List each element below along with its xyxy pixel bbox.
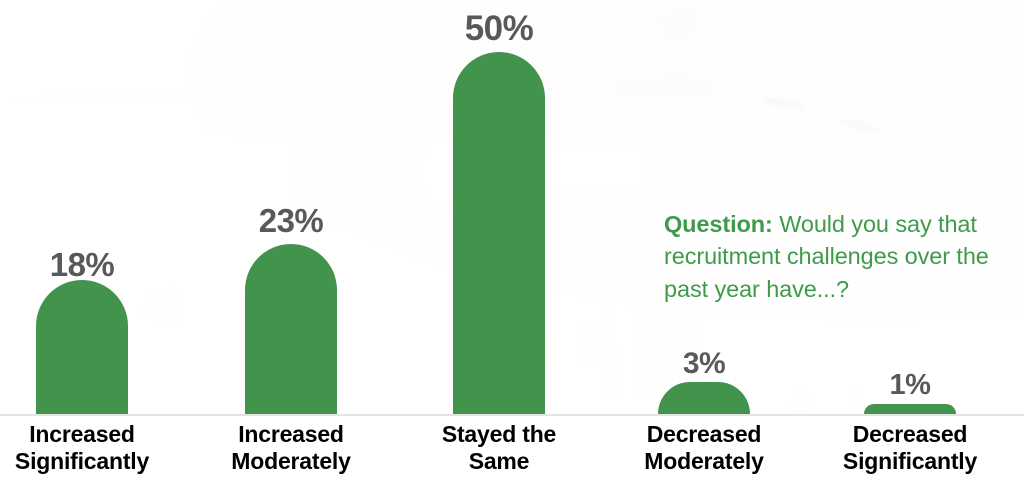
bar-category-label-line1: Decreased xyxy=(805,421,1015,448)
bar-category-label-line1: Decreased xyxy=(599,421,809,448)
bar-category-label: Increased Moderately xyxy=(186,421,396,475)
bar-category-label-line2: Significantly xyxy=(805,448,1015,475)
bar-category-label-line1: Increased xyxy=(186,421,396,448)
bar-value-label: 1% xyxy=(820,369,1000,402)
bar-category-label-line2: Same xyxy=(394,448,604,475)
bar-increased-moderately xyxy=(245,244,337,414)
bar-value-label: 18% xyxy=(0,246,172,284)
bar-decreased-moderately xyxy=(658,382,750,414)
bar-category-label-line2: Moderately xyxy=(599,448,809,475)
bar-decreased-significantly xyxy=(864,404,956,414)
bar-category-label-line2: Moderately xyxy=(186,448,396,475)
bar-category-label: Increased Significantly xyxy=(0,421,187,475)
bar-value-label: 23% xyxy=(201,202,381,240)
infographic-bar-chart: 18% Increased Significantly 23% Increase… xyxy=(0,0,1024,498)
bar-category-label-line1: Increased xyxy=(0,421,187,448)
bar-category-label-line1: Stayed the xyxy=(394,421,604,448)
bar-category-label: Decreased Moderately xyxy=(599,421,809,475)
question-callout: Question: Would you say that recruitment… xyxy=(664,208,994,305)
axis-baseline xyxy=(0,414,1024,416)
bar-value-label: 50% xyxy=(409,9,589,49)
bar-stayed-the-same xyxy=(453,52,545,414)
bar-category-label: Decreased Significantly xyxy=(805,421,1015,475)
bar-category-label-line2: Significantly xyxy=(0,448,187,475)
question-prefix: Question: xyxy=(664,211,773,237)
bar-category-label: Stayed the Same xyxy=(394,421,604,475)
bar-value-label: 3% xyxy=(614,347,794,381)
bar-increased-significantly xyxy=(36,280,128,414)
